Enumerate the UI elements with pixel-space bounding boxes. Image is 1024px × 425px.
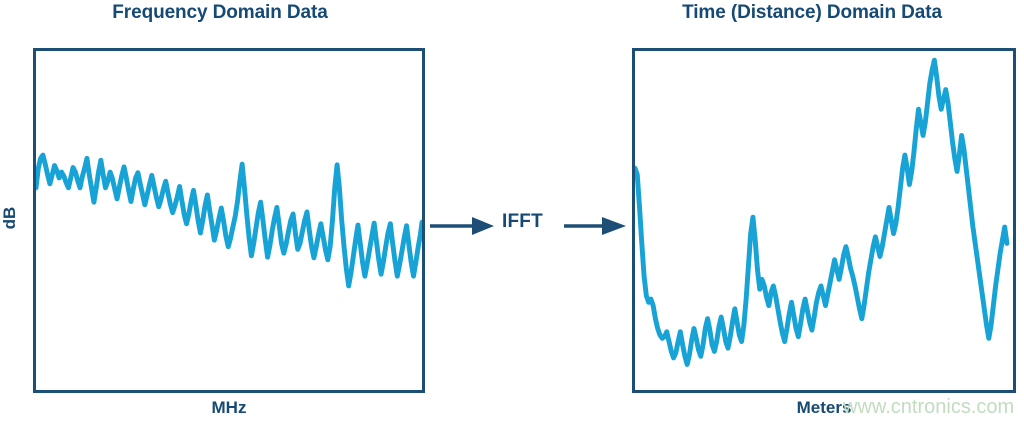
time-waveform-chart [635, 51, 1013, 390]
frequency-panel-title: Frequency Domain Data [0, 2, 440, 24]
time-plot-frame [632, 48, 1016, 393]
time-panel-title: Time (Distance) Domain Data [600, 2, 1024, 24]
time-domain-panel: Time (Distance) Domain Data Meters [600, 0, 1024, 425]
y-axis-label-db: dB [0, 198, 20, 238]
frequency-domain-panel: Frequency Domain Data dB MHz [0, 0, 440, 425]
frequency-waveform-chart [36, 51, 422, 390]
ifft-label: IFFT [502, 211, 543, 233]
frequency-plot-frame [33, 48, 425, 393]
arrow-right-icon-in [430, 217, 494, 235]
site-watermark: www.cntronics.com [843, 396, 1014, 419]
time-trace-line [635, 60, 1007, 364]
x-axis-label-mhz: MHz [33, 398, 425, 418]
frequency-trace-line [36, 155, 422, 286]
